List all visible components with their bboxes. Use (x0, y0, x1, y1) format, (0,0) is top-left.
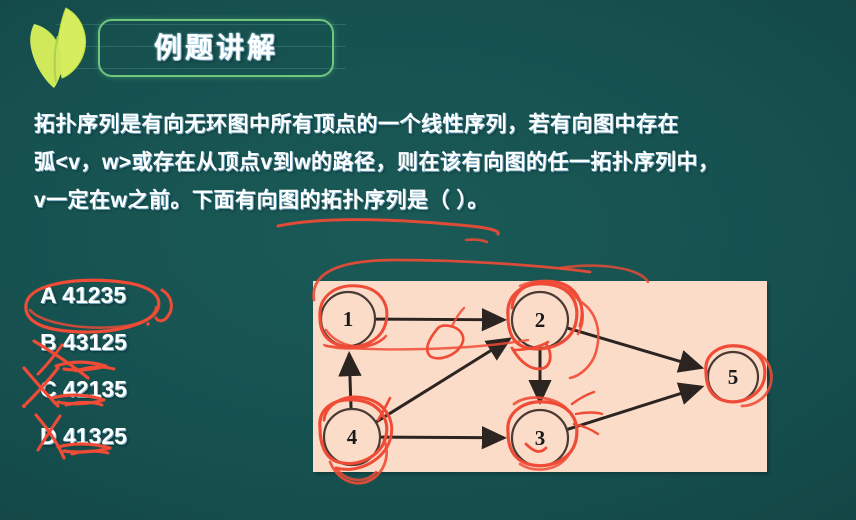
annotation-top-sweep (560, 266, 648, 282)
option-c[interactable]: C 42135 (32, 376, 202, 423)
annotation-dot (22, 404, 26, 408)
annotation-underline (278, 220, 498, 234)
leaf-logo (22, 6, 98, 88)
annotation-underline-tick (466, 240, 487, 242)
slide-screen: 例题讲解 拓扑序列是有向无环图中所有顶点的一个线性序列，若有向图中存在 弧<v，… (0, 0, 856, 520)
option-a[interactable]: A 41235 (32, 282, 202, 329)
graph-panel (313, 281, 767, 472)
option-b-label: B 43125 (40, 329, 127, 356)
options-list: A 41235 B 43125 C 42135 D 41325 (32, 282, 202, 470)
question-line: 弧<v，w>或存在从顶点v到w的路径，则在该有向图的任一拓扑序列中， (34, 144, 824, 182)
title-box: 例题讲解 (98, 19, 334, 77)
option-d[interactable]: D 41325 (32, 423, 202, 470)
question-line: v一定在w之前。下面有向图的拓扑序列是（ ）。 (34, 182, 824, 220)
header: 例题讲解 (0, 0, 856, 92)
option-b[interactable]: B 43125 (32, 329, 202, 376)
option-a-label: A 41235 (40, 282, 126, 309)
question-line: 拓扑序列是有向无环图中所有顶点的一个线性序列，若有向图中存在 (34, 106, 824, 144)
option-d-label: D 41325 (40, 423, 127, 450)
option-c-label: C 42135 (40, 376, 127, 403)
question-text: 拓扑序列是有向无环图中所有顶点的一个线性序列，若有向图中存在 弧<v，w>或存在… (34, 106, 824, 220)
page-title: 例题讲解 (100, 21, 332, 75)
